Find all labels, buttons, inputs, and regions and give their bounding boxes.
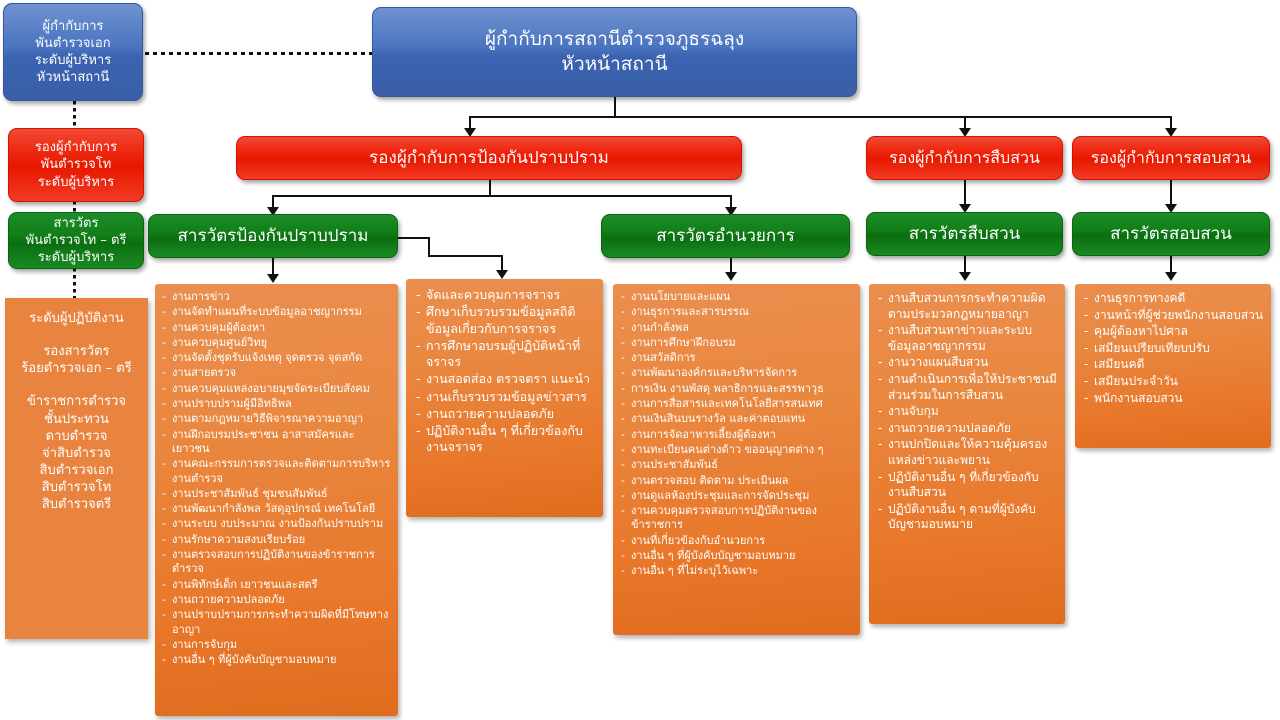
duty-item: -งานควบคุมศูนย์วิทยุ <box>162 336 392 350</box>
rank-box-operational[interactable]: ระดับผู้ปฏิบัติงาน รองสารวัตร ร้อยตำรวจเ… <box>5 298 148 639</box>
dash-bullet: - <box>1084 308 1088 324</box>
duty-list-inquiry: -งานธุรการทางคดี-งานหน้าที่ผู้ช่วยพนักงา… <box>1075 284 1271 448</box>
duty-item: -งานพัฒนาองค์กรและบริหารจัดการ <box>621 366 854 380</box>
rank-operational-line-8: จ่าสิบตำรวจ <box>11 445 142 462</box>
dash-bullet: - <box>162 533 166 547</box>
dash-bullet: - <box>162 608 166 622</box>
dash-bullet: - <box>162 653 166 667</box>
duty-item: -เสมียนเปรียบเทียบปรับ <box>1084 341 1264 357</box>
dash-bullet: - <box>162 290 166 304</box>
duty-item: -ปฏิบัติงานอื่น ๆ ที่เกี่ยวข้องกับงานสืบ… <box>878 470 1058 501</box>
duty-item-label: งานธุรการและสารบรรณ <box>631 305 749 318</box>
duty-item-label: งานการจัดอาหารเลี้ยงผู้ต้องหา <box>631 428 776 441</box>
duty-item-label: งานตรวจสอบการปฏิบัติงานของข้าราชการตำรวจ <box>172 548 375 575</box>
duty-item: -งานสายตรวจ <box>162 366 392 380</box>
dash-bullet: - <box>1084 357 1088 373</box>
duty-item: -งานปราบปรามผู้มีอิทธิพล <box>162 397 392 411</box>
duty-item: -งานรักษาความสงบเรียบร้อย <box>162 533 392 547</box>
duty-item-label: งานปราบปรามการกระทำความผิดที่มีโทษทางอาญ… <box>172 608 388 635</box>
duty-item: -งานพัฒนากำลังพล วัสดุอุปกรณ์ เทคโนโลยี <box>162 502 392 516</box>
dash-bullet: - <box>878 502 882 518</box>
duty-item-label: งานการสื่อสารและเทคโนโลยีสารสนเทศ <box>631 397 823 410</box>
head-line-0: ผู้กำกับการสถานีตำรวจภูธรฉลุง <box>379 27 850 52</box>
arrow-inquiry-list <box>1165 272 1177 281</box>
dash-bullet: - <box>162 336 166 350</box>
duty-item-label: งานควบคุมผู้ต้องหา <box>172 321 265 334</box>
division-box-prevention[interactable]: สารวัตรป้องกันปราบปราม <box>148 214 398 258</box>
dash-bullet: - <box>621 564 625 578</box>
duty-list-investigation: -งานสืบสวนการกระทำความผิดตามประมวลกฎหมาย… <box>869 284 1065 624</box>
duty-item: -งานอื่น ๆ ที่ผู้บังคับบัญชามอบหมาย <box>621 549 854 563</box>
duty-item: -งานการข่าว <box>162 290 392 304</box>
duty-item: -งานสืบสวนหาข่าวและระบบข้อมูลอาชญากรรม <box>878 323 1058 354</box>
dash-bullet: - <box>878 372 882 388</box>
duty-item-label: งานการจับกุม <box>172 638 237 651</box>
dash-bullet: - <box>162 487 166 501</box>
connector-deputy1-stem <box>489 180 491 196</box>
dash-bullet: - <box>1084 291 1088 307</box>
dash-bullet: - <box>878 437 882 453</box>
dash-bullet: - <box>621 290 625 304</box>
org-chart-canvas: ผู้กำกับการ พันตำรวจเอก ระดับผู้บริหาร ห… <box>0 0 1280 720</box>
deputy-label-1: รองผู้กำกับการสืบสวน <box>873 147 1056 168</box>
duty-item: -งานนโยบายและแผน <box>621 290 854 304</box>
dash-bullet: - <box>416 406 421 422</box>
duty-item: -งานปราบปรามการกระทำความผิดที่มีโทษทางอา… <box>162 608 392 637</box>
duty-item: -งานสอดส่อง ตรวจตรา แนะนำ <box>416 371 595 387</box>
duty-list-administration-items: -งานนโยบายและแผน-งานธุรการและสารบรรณ-งาน… <box>621 290 854 579</box>
dash-bullet: - <box>621 534 625 548</box>
dash-bullet: - <box>621 321 625 335</box>
duty-item: -งานหน้าที่ผู้ช่วยพนักงานสอบสวน <box>1084 308 1264 324</box>
duty-item-label: งานควบคุมตรวจสอบการปฏิบัติงานของข้าราชกา… <box>631 504 817 531</box>
duty-item-label: งานจับกุม <box>888 404 939 418</box>
dash-bullet: - <box>1084 391 1088 407</box>
duty-item: -งานจัดตั้งชุดรับแจ้งเหตุ จุดตรวจ จุดสกั… <box>162 351 392 365</box>
duty-item-label: งานคณะกรรมการตรวจและติดตามการบริหารงานตำ… <box>172 457 390 484</box>
duty-item: -พนักงานสอบสวน <box>1084 391 1264 407</box>
duty-item-label: งานเงินสินบนรางวัล และค่าตอบแทน <box>631 412 805 425</box>
dash-bullet: - <box>416 423 421 439</box>
rank-box-commander[interactable]: ผู้กำกับการ พันตำรวจเอก ระดับผู้บริหาร ห… <box>3 3 143 101</box>
duty-item-label: ปฏิบัติงานอื่น ๆ ตามที่ผู้บังคับบัญชามอบ… <box>888 502 1036 532</box>
duty-item: -การศึกษาอบรมผู้ปฏิบัติหน้าที่จราจร <box>416 338 595 371</box>
deputy-box-prevention[interactable]: รองผู้กำกับการป้องกันปราบปราม <box>236 136 742 180</box>
dash-bullet: - <box>621 549 625 563</box>
duty-item: -งานตรวจสอบการปฏิบัติงานของข้าราชการตำรว… <box>162 548 392 577</box>
duty-item: -งานจับกุม <box>878 404 1058 420</box>
dash-bullet: - <box>162 305 166 319</box>
duty-item: -งานตามกฎหมายวิธีพิจารณาความอาญา <box>162 412 392 426</box>
duty-item-label: งานการข่าว <box>172 290 230 303</box>
duty-item: -ปฏิบัติงานอื่น ๆ ที่เกี่ยวข้องกับงานจรา… <box>416 423 595 456</box>
dash-bullet: - <box>621 412 625 426</box>
duty-item-label: งานสายตรวจ <box>172 366 236 379</box>
dash-bullet: - <box>162 593 166 607</box>
duty-item-label: การศึกษาอบรมผู้ปฏิบัติหน้าที่จราจร <box>426 338 580 369</box>
dash-bullet: - <box>1084 341 1088 357</box>
division-box-administration[interactable]: สารวัตรอำนวยการ <box>601 214 850 258</box>
rank-deputy-line-2: ระดับผู้บริหาร <box>15 174 137 191</box>
duty-item: -งานพิทักษ์เด็ก เยาวชนและสตรี <box>162 578 392 592</box>
duty-item: -งานสืบสวนการกระทำความผิดตามประมวลกฎหมาย… <box>878 291 1058 322</box>
rank-operational-spacer-2 <box>11 377 142 393</box>
rank-inspector-line-2: ระดับผู้บริหาร <box>15 249 137 266</box>
duty-item-label: จัดและควบคุมการจราจร <box>426 287 560 302</box>
dash-bullet: - <box>878 291 882 307</box>
rank-operational-spacer-1 <box>11 327 142 343</box>
duty-item-label: ปฏิบัติงานอื่น ๆ ที่เกี่ยวข้องกับงานจราจ… <box>426 423 583 454</box>
dash-bullet: - <box>878 470 882 486</box>
duty-item: -งานเก็บรวบรวมข้อมูลข่าวสาร <box>416 389 595 405</box>
duty-item-label: งานประชาสัมพันธ์ ชุมชนสัมพันธ์ <box>172 487 328 500</box>
duty-item-label: งานปกปิดและให้ความคุ้มครองแหล่งข่าวและพย… <box>888 437 1047 467</box>
duty-item-label: งานสืบสวนหาข่าวและระบบข้อมูลอาชญากรรม <box>888 323 1032 353</box>
duty-item-label: เสมียนเปรียบเทียบปรับ <box>1094 341 1210 355</box>
duty-item: -งานกำลังพล <box>621 321 854 335</box>
rank-deputy-line-0: รองผู้กำกับการ <box>15 139 137 156</box>
duty-list-traffic: -จัดและควบคุมการจราจร-ศึกษาเก็บรวบรวมข้อ… <box>406 279 603 517</box>
duty-list-prevention-items: -งานการข่าว-งานจัดทำแผนที่ระบบข้อมูลอาชญ… <box>162 290 392 667</box>
duty-item-label: งานการศึกษาฝึกอบรม <box>631 336 736 349</box>
duty-list-administration: -งานนโยบายและแผน-งานธุรการและสารบรรณ-งาน… <box>613 284 860 635</box>
duty-list-inquiry-items: -งานธุรการทางคดี-งานหน้าที่ผู้ช่วยพนักงา… <box>1084 291 1264 406</box>
deputy-box-investigation[interactable]: รองผู้กำกับการสืบสวน <box>866 136 1063 180</box>
dash-bullet: - <box>162 517 166 531</box>
duty-item: -งานธุรการและสารบรรณ <box>621 305 854 319</box>
connector-division1-branch-h1 <box>398 237 430 239</box>
duty-item-label: งานตามกฎหมายวิธีพิจารณาความอาญา <box>172 412 363 425</box>
duty-item-label: งานประชาสัมพันธ์ <box>631 458 718 471</box>
rank-operational-line-0: ระดับผู้ปฏิบัติงาน <box>11 310 142 327</box>
connector-second-bus <box>272 195 732 197</box>
duty-item: -งานประชาสัมพันธ์ <box>621 458 854 472</box>
rank-commander-line-3: หัวหน้าสถานี <box>10 69 136 86</box>
rank-commander-line-0: ผู้กำกับการ <box>10 18 136 35</box>
duty-item: -งานธุรการทางคดี <box>1084 291 1264 307</box>
duty-item-label: งานนโยบายและแผน <box>631 290 730 303</box>
rank-operational-line-10: สิบตำรวจโท <box>11 479 142 496</box>
dash-bullet: - <box>162 428 166 442</box>
deputy-label-2: รองผู้กำกับการสอบสวน <box>1079 147 1263 168</box>
rank-operational-line-6: ชั้นประทวน <box>11 411 142 428</box>
dash-bullet: - <box>416 371 421 387</box>
dash-bullet: - <box>1084 324 1088 340</box>
connector-dotted-inspector-to-operational <box>73 268 76 298</box>
duty-item: -งานฝึกอบรมประชาชน อาสาสมัครและเยาวชน <box>162 428 392 457</box>
dash-bullet: - <box>416 389 421 405</box>
duty-list-investigation-items: -งานสืบสวนการกระทำความผิดตามประมวลกฎหมาย… <box>878 291 1058 533</box>
dash-bullet: - <box>878 355 882 371</box>
dash-bullet: - <box>162 548 166 562</box>
duty-item: -งานดำเนินการเพื่อให้ประชาชนมีส่วนร่วมใน… <box>878 372 1058 403</box>
dash-bullet: - <box>162 321 166 335</box>
dash-bullet: - <box>621 443 625 457</box>
duty-item: -งานจัดทำแผนที่ระบบข้อมูลอาชญากรรม <box>162 305 392 319</box>
dash-bullet: - <box>162 382 166 396</box>
division-label-0: สารวัตรป้องกันปราบปราม <box>155 225 391 247</box>
connector-dotted-commander-to-head <box>145 52 373 55</box>
connector-division1-branch-v <box>428 237 430 257</box>
duty-item-label: งานดูแลห้องประชุมและการจัดประชุม <box>631 489 809 502</box>
duty-item: -เสมียนคดี <box>1084 357 1264 373</box>
duty-item: -จัดและควบคุมการจราจร <box>416 287 595 303</box>
rank-box-deputy[interactable]: รองผู้กำกับการ พันตำรวจโท ระดับผู้บริหาร <box>8 128 144 202</box>
dash-bullet: - <box>416 304 421 320</box>
duty-item-label: งานอื่น ๆ ที่ผู้บังคับบัญชามอบหมาย <box>172 653 336 666</box>
duty-item-label: พนักงานสอบสวน <box>1094 391 1183 405</box>
dash-bullet: - <box>621 504 625 518</box>
duty-item-label: คุมผู้ต้องหาไปศาล <box>1094 324 1188 338</box>
dash-bullet: - <box>878 323 882 339</box>
dash-bullet: - <box>162 366 166 380</box>
duty-item: -งานการสื่อสารและเทคโนโลยีสารสนเทศ <box>621 397 854 411</box>
duty-item-label: การเงิน งานพัสดุ พลาธิการและสรรพาวุธ <box>631 382 824 395</box>
connector-top-bus <box>469 116 1172 118</box>
connector-dotted-commander-to-deputy <box>73 101 76 129</box>
duty-item-label: งานดำเนินการเพื่อให้ประชาชนมีส่วนร่วมในก… <box>888 372 1057 402</box>
duty-item: -งานอื่น ๆ ที่ผู้บังคับบัญชามอบหมาย <box>162 653 392 667</box>
duty-item-label: เสมียนคดี <box>1094 357 1144 371</box>
duty-item: -งานการจัดอาหารเลี้ยงผู้ต้องหา <box>621 428 854 442</box>
dash-bullet: - <box>162 457 166 471</box>
duty-item-label: เสมียนประจำวัน <box>1094 374 1178 388</box>
duty-item-label: งานพัฒนากำลังพล วัสดุอุปกรณ์ เทคโนโลยี <box>172 502 375 515</box>
dash-bullet: - <box>162 638 166 652</box>
connector-deputy2-to-division3 <box>964 180 966 206</box>
deputy-box-inquiry[interactable]: รองผู้กำกับการสอบสวน <box>1072 136 1270 180</box>
duty-item: -งานถวายความปลอดภัย <box>416 406 595 422</box>
rank-operational-line-9: สิบตำรวจเอก <box>11 462 142 479</box>
duty-item: -งานดูแลห้องประชุมและการจัดประชุม <box>621 489 854 503</box>
dash-bullet: - <box>162 502 166 516</box>
connector-division1-branch-h2 <box>428 255 503 257</box>
duty-item-label: งานธุรการทางคดี <box>1094 291 1185 305</box>
duty-item-label: งานพิทักษ์เด็ก เยาวชนและสตรี <box>172 578 318 591</box>
division-label-2: สารวัตรสืบสวน <box>873 223 1056 245</box>
division-box-investigation[interactable]: สารวัตรสืบสวน <box>866 212 1063 256</box>
dash-bullet: - <box>621 351 625 365</box>
duty-item: -เสมียนประจำวัน <box>1084 374 1264 390</box>
duty-item: -งานตรวจสอบ ติดตาม ประเมินผล <box>621 474 854 488</box>
duty-item: -ศึกษาเก็บรวบรวมข้อมูลสถิติข้อมูลเกี่ยวก… <box>416 304 595 337</box>
head-line-1: หัวหน้าสถานี <box>379 52 850 77</box>
duty-item-label: งานปราบปรามผู้มีอิทธิพล <box>172 397 292 410</box>
dash-bullet: - <box>416 287 421 303</box>
duty-item: -งานระบบ งบประมาณ งานป้องกันปราบปราม <box>162 517 392 531</box>
deputy-label-0: รองผู้กำกับการป้องกันปราบปราม <box>243 147 735 169</box>
duty-item: -งานวางแผนสืบสวน <box>878 355 1058 371</box>
duty-item: -งานประชาสัมพันธ์ ชุมชนสัมพันธ์ <box>162 487 392 501</box>
duty-item: -งานควบคุมผู้ต้องหา <box>162 321 392 335</box>
duty-item: -งานทะเบียนคนต่างด้าว ขออนุญาตต่าง ๆ <box>621 443 854 457</box>
duty-item: -งานควบคุมตรวจสอบการปฏิบัติงานของข้าราชก… <box>621 504 854 533</box>
duty-item-label: งานหน้าที่ผู้ช่วยพนักงานสอบสวน <box>1094 308 1263 322</box>
duty-item: -การเงิน งานพัสดุ พลาธิการและสรรพาวุธ <box>621 382 854 396</box>
duty-item: -งานเงินสินบนรางวัล และค่าตอบแทน <box>621 412 854 426</box>
duty-item-label: งานรักษาความสงบเรียบร้อย <box>172 533 305 546</box>
duty-item: -งานคณะกรรมการตรวจและติดตามการบริหารงานต… <box>162 457 392 486</box>
duty-item-label: งานตรวจสอบ ติดตาม ประเมินผล <box>631 474 788 487</box>
dash-bullet: - <box>162 351 166 365</box>
duty-list-prevention: -งานการข่าว-งานจัดทำแผนที่ระบบข้อมูลอาชญ… <box>155 284 398 716</box>
duty-item-label: งานควบคุมแหล่งอบายมุขจัดระเบียบสังคม <box>172 382 370 395</box>
dash-bullet: - <box>621 428 625 442</box>
dash-bullet: - <box>878 421 882 437</box>
duty-item-label: ปฏิบัติงานอื่น ๆ ที่เกี่ยวข้องกับงานสืบส… <box>888 470 1039 500</box>
duty-item-label: งานสวัสดิการ <box>631 351 696 364</box>
rank-operational-line-2: รองสารวัตร <box>11 343 142 360</box>
duty-item-label: งานระบบ งบประมาณ งานป้องกันปราบปราม <box>172 517 383 530</box>
duty-item: -งานปกปิดและให้ความคุ้มครองแหล่งข่าวและพ… <box>878 437 1058 468</box>
duty-item-label: งานฝึกอบรมประชาชน อาสาสมัครและเยาวชน <box>172 428 355 455</box>
duty-item-label: งานทะเบียนคนต่างด้าว ขออนุญาตต่าง ๆ <box>631 443 824 456</box>
dash-bullet: - <box>621 305 625 319</box>
duty-item: -งานที่เกี่ยวข้องกับอำนวยการ <box>621 534 854 548</box>
dash-bullet: - <box>621 336 625 350</box>
division-label-3: สารวัตรสอบสวน <box>1079 223 1263 245</box>
duty-item-label: งานวางแผนสืบสวน <box>888 355 988 369</box>
duty-item-label: งานถวายความปลอดภัย <box>426 406 554 421</box>
connector-head-stem <box>614 97 616 118</box>
rank-inspector-line-0: สารวัตร <box>15 215 137 232</box>
duty-item-label: งานจัดทำแผนที่ระบบข้อมูลอาชญากรรม <box>172 305 362 318</box>
head-station-box[interactable]: ผู้กำกับการสถานีตำรวจภูธรฉลุง หัวหน้าสถา… <box>372 7 857 97</box>
rank-deputy-line-1: พันตำรวจโท <box>15 156 137 173</box>
rank-box-inspector[interactable]: สารวัตร พันตำรวจโท – ตรี ระดับผู้บริหาร <box>8 212 144 269</box>
duty-item: -งานอื่น ๆ ที่ไม่ระบุไว้เฉพาะ <box>621 564 854 578</box>
dash-bullet: - <box>621 474 625 488</box>
dash-bullet: - <box>162 578 166 592</box>
division-label-1: สารวัตรอำนวยการ <box>608 225 843 247</box>
duty-item: -คุมผู้ต้องหาไปศาล <box>1084 324 1264 340</box>
duty-item: -ปฏิบัติงานอื่น ๆ ตามที่ผู้บังคับบัญชามอ… <box>878 502 1058 533</box>
duty-item-label: งานถวายความปลอดภัย <box>172 593 285 606</box>
arrow-administration-list <box>725 272 737 281</box>
dash-bullet: - <box>1084 374 1088 390</box>
duty-item-label: งานควบคุมศูนย์วิทยุ <box>172 336 267 349</box>
dash-bullet: - <box>162 412 166 426</box>
duty-item-label: งานเก็บรวบรวมข้อมูลข่าวสาร <box>426 389 587 404</box>
dash-bullet: - <box>416 338 421 354</box>
dash-bullet: - <box>162 397 166 411</box>
duty-item: -งานการศึกษาฝึกอบรม <box>621 336 854 350</box>
duty-item: -งานการจับกุม <box>162 638 392 652</box>
duty-item-label: ศึกษาเก็บรวบรวมข้อมูลสถิติข้อมูลเกี่ยวกั… <box>426 304 575 335</box>
division-box-inquiry[interactable]: สารวัตรสอบสวน <box>1072 212 1270 256</box>
dash-bullet: - <box>621 366 625 380</box>
rank-operational-line-7: ดาบตำรวจ <box>11 428 142 445</box>
duty-item-label: งานสอดส่อง ตรวจตรา แนะนำ <box>426 371 590 386</box>
dash-bullet: - <box>878 404 882 420</box>
arrow-prevention-list <box>267 274 279 283</box>
duty-item-label: งานอื่น ๆ ที่ไม่ระบุไว้เฉพาะ <box>631 564 758 577</box>
duty-item-label: งานจัดตั้งชุดรับแจ้งเหตุ จุดตรวจ จุดสกัด <box>172 351 362 364</box>
duty-item: -งานควบคุมแหล่งอบายมุขจัดระเบียบสังคม <box>162 382 392 396</box>
dash-bullet: - <box>621 382 625 396</box>
dash-bullet: - <box>621 397 625 411</box>
duty-item-label: งานถวายความปลอดภัย <box>888 421 1011 435</box>
duty-item: -งานถวายความปลอดภัย <box>878 421 1058 437</box>
rank-commander-line-1: พันตำรวจเอก <box>10 35 136 52</box>
duty-item: -งานสวัสดิการ <box>621 351 854 365</box>
duty-item: -งานถวายความปลอดภัย <box>162 593 392 607</box>
duty-item-label: งานพัฒนาองค์กรและบริหารจัดการ <box>631 366 797 379</box>
rank-operational-line-5: ข้าราชการตำรวจ <box>11 393 142 410</box>
arrow-investigation-list <box>959 272 971 281</box>
duty-item-label: งานกำลังพล <box>631 321 689 334</box>
rank-commander-line-2: ระดับผู้บริหาร <box>10 52 136 69</box>
duty-item-label: งานสืบสวนการกระทำความผิดตามประมวลกฎหมายอ… <box>888 291 1046 321</box>
dash-bullet: - <box>621 458 625 472</box>
duty-item-label: งานอื่น ๆ ที่ผู้บังคับบัญชามอบหมาย <box>631 549 795 562</box>
rank-inspector-line-1: พันตำรวจโท – ตรี <box>15 232 137 249</box>
duty-list-traffic-items: -จัดและควบคุมการจราจร-ศึกษาเก็บรวบรวมข้อ… <box>416 287 595 456</box>
rank-operational-line-11: สิบตำรวจตรี <box>11 496 142 513</box>
duty-item-label: งานที่เกี่ยวข้องกับอำนวยการ <box>631 534 765 547</box>
connector-deputy3-to-division4 <box>1170 180 1172 206</box>
rank-operational-line-3: ร้อยตำรวจเอก – ตรี <box>11 360 142 377</box>
arrow-traffic-list <box>496 270 508 279</box>
dash-bullet: - <box>621 489 625 503</box>
